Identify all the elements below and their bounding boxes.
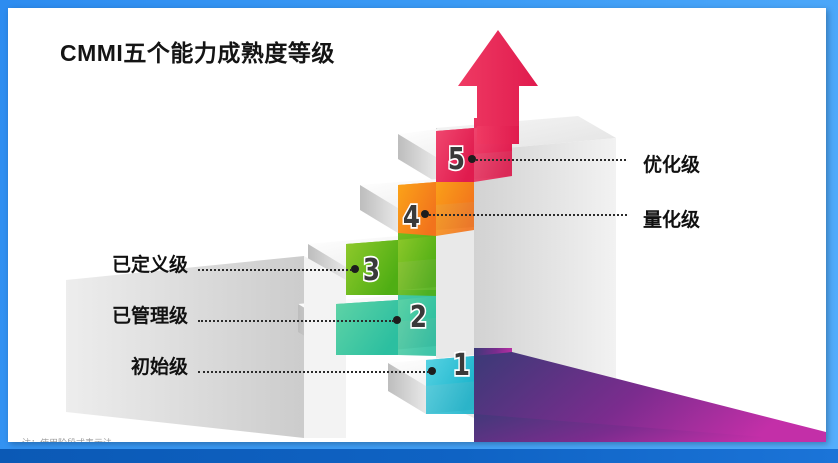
step-number-4: 4	[403, 200, 420, 235]
step-number-1: 1	[453, 348, 470, 383]
purple-ramp	[426, 348, 826, 442]
level-label-3: 已定义级	[93, 250, 188, 277]
level-label-4: 量化级	[643, 205, 700, 232]
connector-dot-5	[468, 155, 476, 163]
connector-line-3	[198, 269, 352, 271]
frame-bottom-bar	[0, 449, 838, 463]
connector-dot-3	[351, 265, 359, 273]
step-number-2: 2	[410, 300, 427, 335]
slide-frame: 5 4 3 2 1 优化级 量化级 已定义级 已管理级 初始级 CMMI五个能力…	[0, 0, 838, 463]
connector-dot-1	[428, 367, 436, 375]
footnote: 注：使用阶段式表示法。	[22, 436, 121, 442]
connector-dot-2	[393, 316, 401, 324]
level-label-5: 优化级	[643, 150, 700, 177]
connector-line-4	[429, 214, 627, 216]
page-title: CMMI五个能力成熟度等级	[60, 34, 335, 68]
connector-dot-4	[421, 210, 429, 218]
level-label-2: 已管理级	[93, 301, 188, 328]
level-label-1: 初始级	[93, 352, 188, 379]
step-number-5: 5	[448, 142, 465, 177]
connector-line-1	[198, 371, 429, 373]
step-number-3: 3	[363, 253, 380, 288]
connector-line-2	[198, 320, 394, 322]
slide-canvas: 5 4 3 2 1 优化级 量化级 已定义级 已管理级 初始级 CMMI五个能力…	[8, 8, 826, 442]
connector-line-5	[476, 159, 626, 161]
